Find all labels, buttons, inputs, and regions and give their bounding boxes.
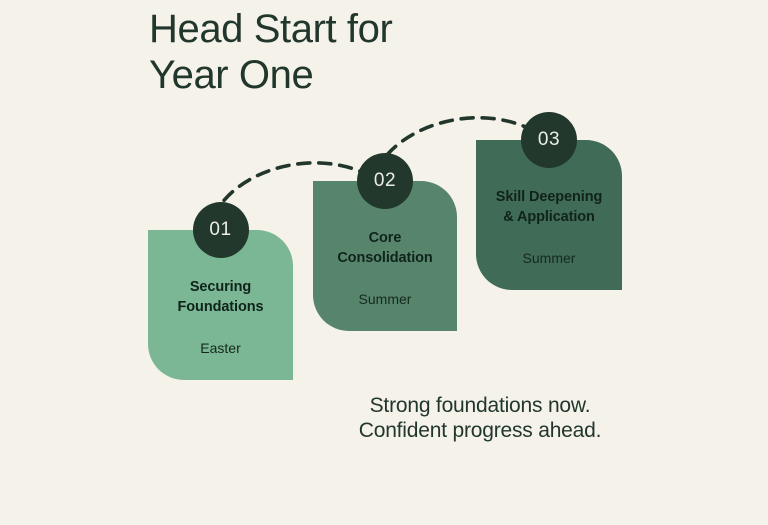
step-term-01: Easter (200, 339, 240, 357)
step-title-02: Core Consolidation (337, 228, 432, 268)
step-card-01[interactable]: Securing Foundations Easter 01 (148, 230, 293, 380)
step-title-03: Skill Deepening & Application (496, 187, 602, 227)
step-number-label-03: 03 (538, 129, 560, 151)
step-term-03: Summer (523, 249, 576, 267)
step-number-badge-03: 03 (521, 112, 577, 168)
step-number-label-02: 02 (374, 170, 396, 192)
step-number-badge-02: 02 (357, 153, 413, 209)
step-card-02[interactable]: Core Consolidation Summer 02 (313, 181, 457, 331)
step-title-01: Securing Foundations (178, 277, 264, 317)
step-number-badge-01: 01 (193, 202, 249, 258)
step-term-02: Summer (359, 290, 412, 308)
tagline: Strong foundations now. Confident progre… (330, 393, 630, 443)
page-title: Head Start for Year One (149, 6, 392, 98)
step-number-label-01: 01 (209, 219, 231, 241)
step-card-03[interactable]: Skill Deepening & Application Summer 03 (476, 140, 622, 290)
infographic-canvas: Head Start for Year One Securing Foundat… (0, 0, 768, 525)
